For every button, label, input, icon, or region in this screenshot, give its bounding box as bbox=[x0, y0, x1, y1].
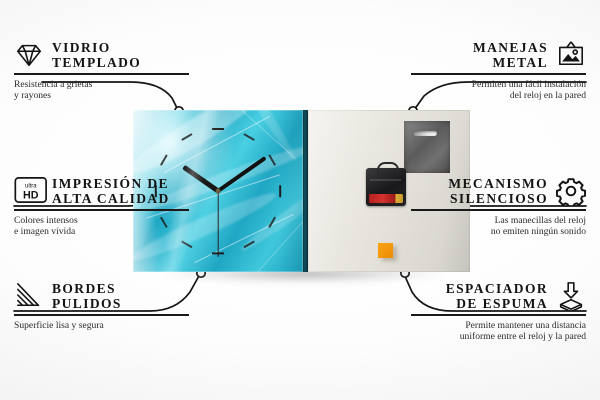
gear-icon bbox=[556, 176, 586, 206]
feature-mecanismo-silencioso: MECANISMO SILENCIOSO Las manecillas del … bbox=[411, 176, 586, 237]
feature-divider bbox=[14, 314, 189, 316]
feature-divider bbox=[411, 73, 586, 75]
feature-title-line2: PULIDOS bbox=[52, 296, 122, 311]
feature-impresion-alta-calidad: ultra HD IMPRESIÓN DE ALTA CALIDAD Color… bbox=[14, 176, 189, 237]
svg-text:HD: HD bbox=[23, 189, 39, 201]
feature-title-line1: MANEJAS bbox=[473, 40, 548, 55]
feature-title-line2: SILENCIOSO bbox=[450, 191, 548, 206]
feature-title-line2: DE ESPUMA bbox=[456, 296, 548, 311]
feature-bordes-pulidos: BORDES PULIDOS Superficie lisa y segura bbox=[14, 281, 189, 331]
feature-title-line1: BORDES bbox=[52, 281, 122, 296]
feature-desc-line2: no emiten ningún sonido bbox=[411, 226, 586, 237]
feature-desc-line2: y rayones bbox=[14, 90, 189, 101]
feature-desc-line1: Las manecillas del reloj bbox=[411, 215, 586, 226]
feature-desc-line1: Permiten una fácil instalación bbox=[411, 79, 586, 90]
feature-desc-line1: Superficie lisa y segura bbox=[14, 320, 189, 331]
feature-desc-line1: Permite mantener una distancia bbox=[411, 320, 586, 331]
feature-title-line1: VIDRIO bbox=[52, 40, 141, 55]
feature-divider bbox=[411, 314, 586, 316]
feature-espaciador-espuma: ESPACIADOR DE ESPUMA Permite mantener un… bbox=[411, 281, 586, 342]
feature-divider bbox=[14, 209, 189, 211]
feature-title-line1: MECANISMO bbox=[448, 176, 548, 191]
feature-divider bbox=[14, 73, 189, 75]
feature-desc-line1: Colores intensos bbox=[14, 215, 189, 226]
clock-center-pin bbox=[216, 189, 221, 194]
ultra-hd-icon: ultra HD bbox=[14, 176, 44, 206]
feature-desc-line2: e imagen vívida bbox=[14, 226, 189, 237]
feature-title-line2: ALTA CALIDAD bbox=[52, 191, 170, 206]
feature-title-line1: ESPACIADOR bbox=[446, 281, 548, 296]
feature-desc-line2: uniforme entre el reloj y la pared bbox=[411, 331, 586, 342]
feature-desc-line2: del reloj en la pared bbox=[411, 90, 586, 101]
feature-title-line2: METAL bbox=[492, 55, 548, 70]
feature-title-line1: IMPRESIÓN DE bbox=[52, 176, 170, 191]
diamond-icon bbox=[14, 40, 44, 70]
infographic-canvas: VIDRIO TEMPLADO Resistencia a grietas y … bbox=[0, 0, 600, 400]
feature-manejas-metal: MANEJAS METAL Permiten una fácil instala… bbox=[411, 40, 586, 101]
feature-title-line2: TEMPLADO bbox=[52, 55, 141, 70]
feature-desc-line1: Resistencia a grietas bbox=[14, 79, 189, 90]
polished-edge-icon bbox=[14, 281, 44, 311]
foam-spacer-icon bbox=[556, 281, 586, 311]
hanging-frame-icon bbox=[556, 40, 586, 70]
feature-vidrio-templado: VIDRIO TEMPLADO Resistencia a grietas y … bbox=[14, 40, 189, 101]
feature-divider bbox=[411, 209, 586, 211]
